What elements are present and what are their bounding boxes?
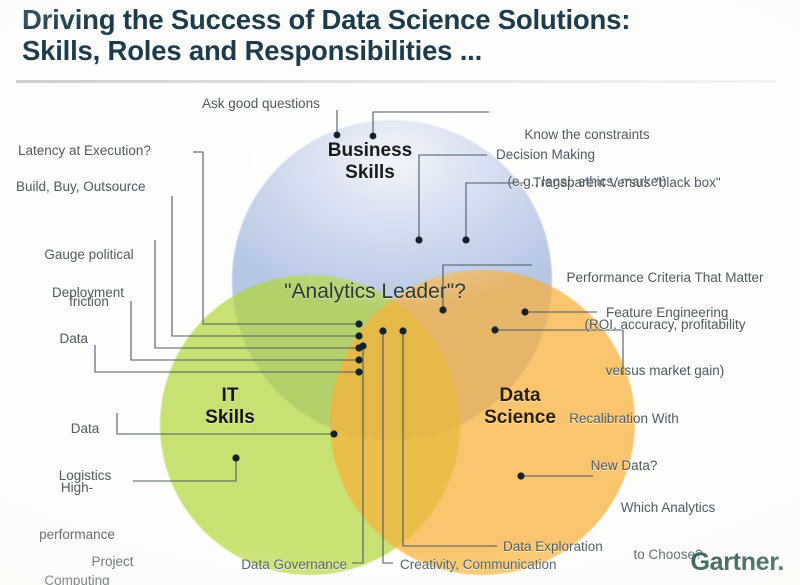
leader-performance-criteria [443, 265, 532, 308]
dot-gauge-political-friction [355, 344, 362, 351]
callout-data-logistics-line1: Data [45, 421, 125, 437]
callout-gauge-political-friction: Gauge political friction [30, 216, 148, 340]
callout-performance-criteria-line1: Performance Criteria That Matter [532, 270, 798, 286]
callout-decision-making: Decision Making [496, 147, 595, 163]
leader-gauge-political-friction [155, 240, 357, 348]
dot-know-constraints [370, 133, 377, 140]
diagram-canvas: Driving the Success of Data Science Solu… [0, 0, 800, 585]
dot-decision-making [415, 236, 422, 243]
leader-creativity-communication [383, 333, 393, 563]
callout-recalibration-line1: Recalibration With [548, 411, 700, 427]
leader-deployment [131, 301, 357, 360]
callout-feature-engineering: Feature Engineering [606, 305, 728, 321]
leader-build-buy-outsource [172, 196, 357, 336]
dot-performance-criteria [439, 306, 446, 313]
callout-latency-at-execution: Latency at Execution? [18, 143, 151, 159]
callout-high-performance-line3: Computing [25, 573, 129, 585]
dot-feature-engineering [521, 308, 528, 315]
leader-data-governance [352, 348, 363, 563]
leader-high-performance-computing [133, 460, 236, 481]
dot-data-logistics [330, 430, 337, 437]
title-line-1: Driving the Success of Data Science Solu… [22, 4, 782, 35]
gartner-logo: Gartner. [691, 548, 785, 577]
dot-build-buy-outsource [355, 332, 362, 339]
callout-data-logistics: Data Logistics [45, 390, 125, 514]
callout-transparent-black-box: Transparent Versus "black box" [533, 175, 721, 191]
dot-transparent-black-box [462, 236, 469, 243]
gartner-logo-text: Gartner [691, 548, 778, 576]
gartner-logo-mark: . [777, 548, 784, 576]
callout-build-buy-outsource: Build, Buy, Outsource [16, 179, 146, 195]
title-line-2: Skills, Roles and Responsibilities ... [22, 35, 782, 66]
leader-latency-at-execution [193, 152, 357, 324]
callout-know-constraints-line1: Know the constraints [472, 127, 702, 143]
dot-recalibration [491, 326, 498, 333]
callout-ask-good-questions: Ask good questions [202, 96, 320, 112]
callout-data-exploration: Data Exploration [503, 539, 603, 555]
dot-data-exploration [399, 327, 406, 334]
callout-gauge-political-line1: Gauge political [30, 247, 148, 263]
dot-creativity-communication [379, 327, 386, 334]
callout-data-logistics-line2: Logistics [45, 468, 125, 484]
dot-ask-good-questions [334, 132, 341, 139]
dot-which-analytics [517, 472, 524, 479]
callout-creativity-communication: Creativity, Communication [400, 557, 557, 573]
dot-high-performance-computing [232, 454, 239, 461]
callout-high-performance-line2: performance [25, 527, 129, 543]
dot-data [355, 368, 362, 375]
title-divider [16, 80, 776, 83]
dot-latency-at-execution [355, 320, 362, 327]
page-title: Driving the Success of Data Science Solu… [22, 4, 782, 66]
callout-which-analytics-line1: Which Analytics [598, 500, 738, 516]
leader-data [95, 345, 357, 372]
callout-gauge-political-line2: friction [30, 294, 148, 310]
callout-performance-criteria-line3: versus market gain) [532, 363, 798, 379]
leader-data-logistics [117, 413, 332, 434]
leader-data-exploration [403, 333, 497, 546]
dot-deployment [355, 356, 362, 363]
